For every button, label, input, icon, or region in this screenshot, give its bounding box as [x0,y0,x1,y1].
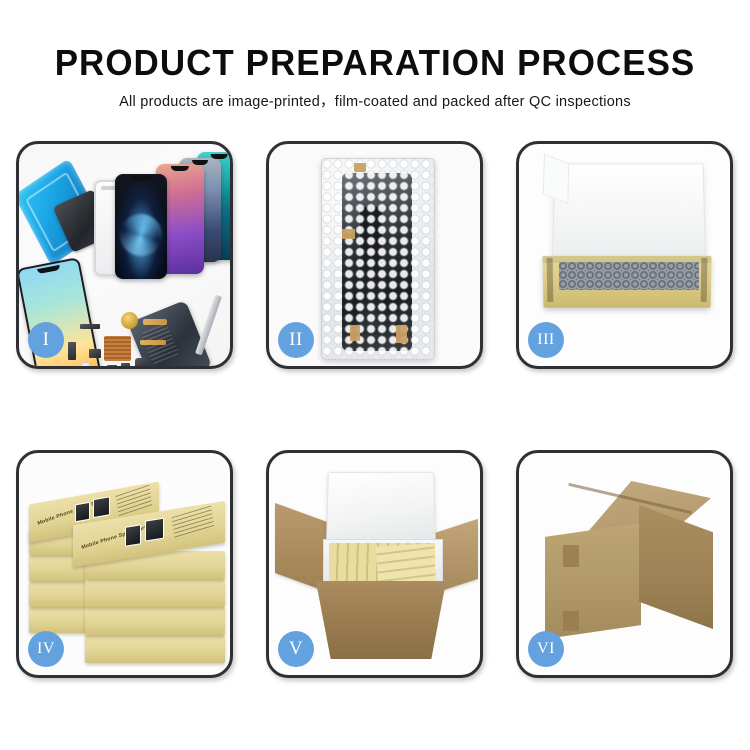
phone-back-housing [128,300,212,366]
retail-box [85,579,225,607]
retail-box [85,607,225,635]
shield-grid-part [104,336,131,361]
box-spec-lines [172,505,215,540]
phone-notch [211,154,228,159]
process-step-panel-2[interactable]: II [266,141,483,369]
tweezers-tool [195,295,222,356]
camera-module-part [135,358,147,366]
carton-body [307,581,455,659]
flex-cable-part [143,319,167,325]
speaker-part [121,312,138,329]
tape-strip [354,163,366,172]
process-step-panel-5[interactable]: V [266,450,483,678]
phone-notch [37,265,60,274]
retail-boxes-inside [376,544,436,587]
carton-side-face [639,505,713,629]
step-badge-2: II [278,322,314,358]
step-badge-4: IV [28,631,64,667]
phone-notch [131,176,151,181]
phone-notch [192,160,208,165]
tape-strip [342,229,355,239]
phone-notch [171,166,189,171]
step-badge-3: III [528,322,564,358]
process-step-panel-3[interactable]: III [516,141,733,369]
retail-box [85,635,225,663]
chip-part [121,363,130,366]
box-tab-right [701,258,708,302]
bubble-texture [322,159,434,359]
carton-tab-upper [563,545,579,567]
page-title: PRODUCT PREPARATION PROCESS [11,0,739,84]
phone-blue-wallpaper [115,174,167,279]
process-step-panel-1[interactable]: I [16,141,233,369]
chip-part [68,342,76,360]
flex-cable-part [140,340,166,345]
box-screen-thumb [125,524,141,547]
page-header: PRODUCT PREPARATION PROCESS All products… [0,0,750,111]
chip-part [89,349,101,358]
grey-bubble-wrap-fill [559,262,699,290]
box-screen-thumb [145,518,164,542]
box-screen-thumb [93,496,110,518]
carton-front-face [545,523,641,639]
chip-part [107,365,117,366]
step-badge-1: I [28,322,64,358]
box-tab-left [547,258,554,302]
chip-part [80,324,100,329]
bubble-wrap-bag [321,158,435,360]
process-step-panel-6[interactable]: VI [516,450,733,678]
connector-part [81,362,90,366]
tape-strip [350,325,360,341]
box-screen-thumb [75,502,90,523]
process-step-panel-4[interactable]: Mobile Phone Spare Parts Mobile Phone Sp… [16,450,233,678]
tape-strip [396,325,407,343]
process-step-grid: I II III [16,141,734,678]
step-badge-6: VI [528,631,564,667]
step-badge-5: V [278,631,314,667]
foam-box-lid [326,472,436,541]
carton-tab-lower [563,611,579,631]
page-subtitle: All products are image-printed，film-coat… [0,84,750,111]
